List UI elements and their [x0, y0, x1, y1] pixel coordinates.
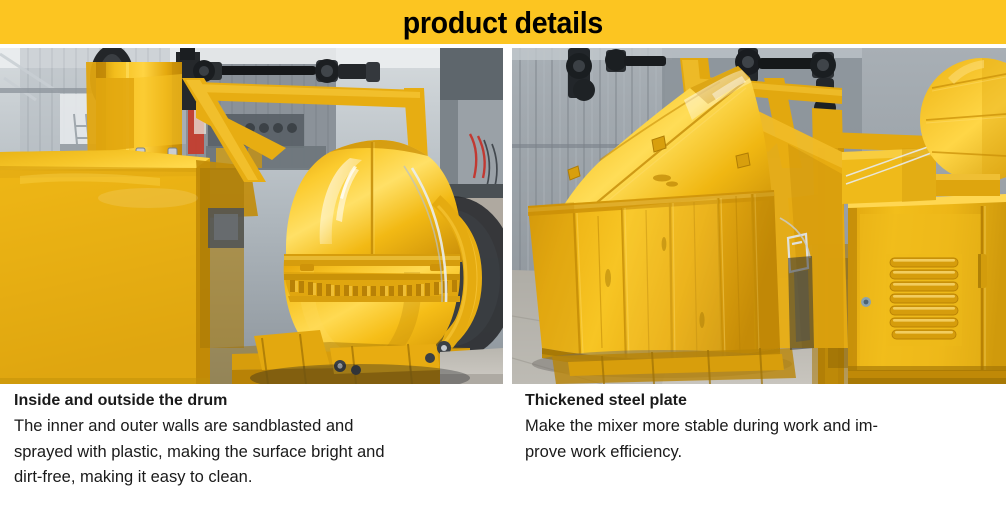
caption-title-drum: Inside and outside the drum — [14, 390, 494, 412]
header-banner: product details — [0, 0, 1006, 44]
product-photo-drum — [0, 48, 503, 384]
caption-body-steel-plate: Make the mixer more stable during work a… — [525, 414, 995, 465]
caption-body-drum: The inner and outer walls are sandblaste… — [14, 414, 494, 491]
page-title: product details — [403, 7, 603, 38]
caption-title-steel-plate: Thickened steel plate — [525, 390, 995, 412]
caption-row: Inside and outside the drum The inner an… — [0, 390, 1006, 505]
product-photo-steel-plate — [512, 48, 1006, 384]
photo-row — [0, 48, 1006, 384]
steel-plate-photo-illustration — [512, 48, 1006, 384]
drum-photo-illustration — [0, 48, 503, 384]
product-details-page: product details — [0, 0, 1006, 505]
caption-steel-plate: Thickened steel plate Make the mixer mor… — [525, 390, 995, 465]
caption-drum: Inside and outside the drum The inner an… — [14, 390, 494, 491]
